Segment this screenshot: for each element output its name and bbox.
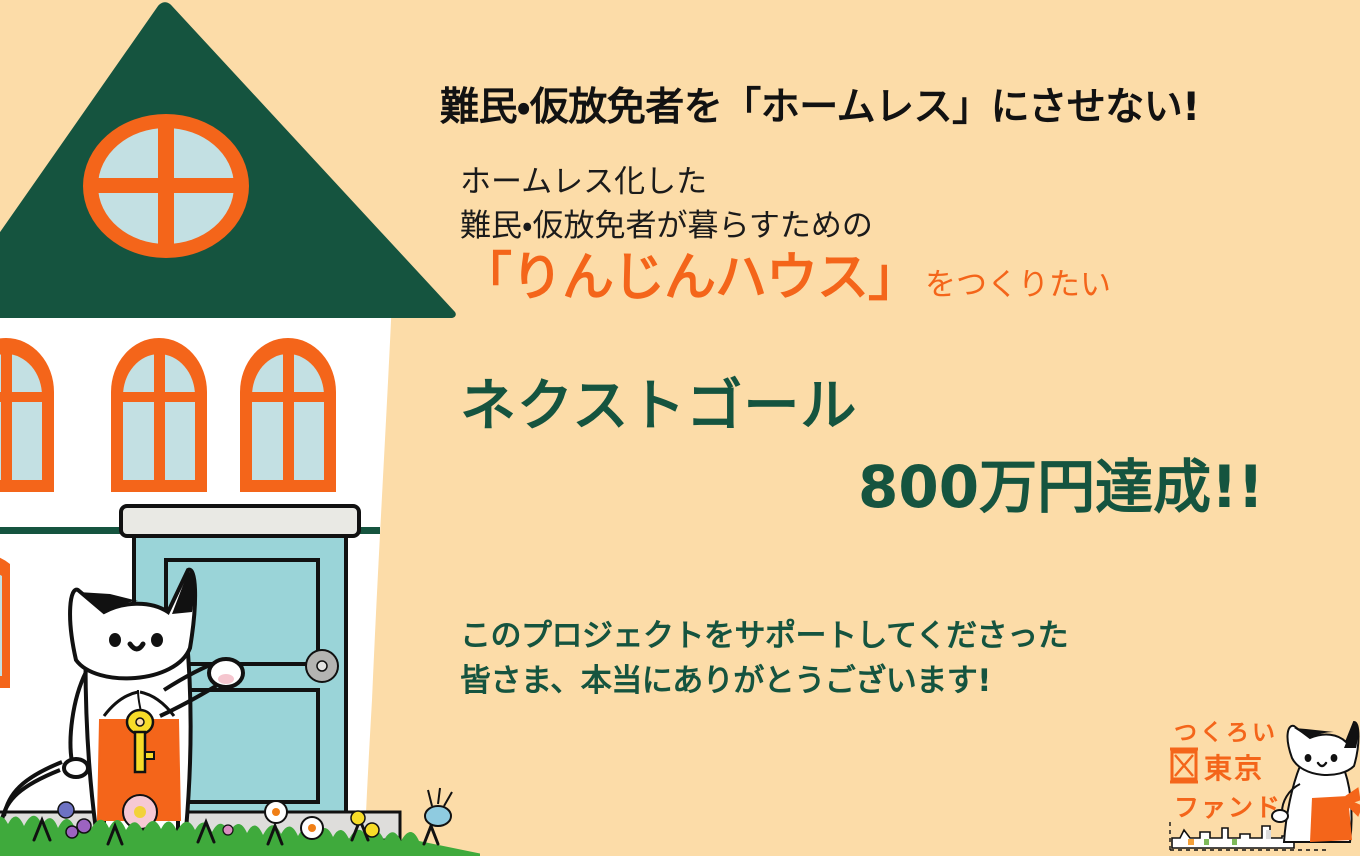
house-name-line: 「りんじんハウス」をつくりたい <box>460 252 1320 304</box>
page-title: 難民・仮放免者を「ホームレス」にさせない! <box>440 76 1200 132</box>
house-name-suffix: をつくりたい <box>919 267 1111 303</box>
thanks-block: このプロジェクトをサポートしてくださった 皆さま、本当にありがとうございます! <box>460 614 1320 704</box>
logo-line-2: 東京 <box>1204 752 1264 785</box>
house-name: 「りんじんハウス」 <box>460 248 919 308</box>
doorknob <box>306 650 338 682</box>
goal-block: ネクストゴール 800万円達成!! <box>460 378 1320 518</box>
logo-line-3: ファンド <box>1174 793 1282 822</box>
arched-window-3 <box>240 338 336 492</box>
arched-window-2 <box>111 338 207 492</box>
cat-mascot <box>1272 722 1360 842</box>
goal-amount: 800万円達成!! <box>460 457 1320 518</box>
arched-window-4 <box>0 554 10 688</box>
round-attic-window <box>83 114 249 258</box>
thanks-line-2: 皆さま、本当にありがとうございます! <box>460 659 1320 704</box>
banner-canvas: 難民・仮放免者を「ホームレス」にさせない! ホームレス化した 難民・仮放免者が暮… <box>0 0 1360 856</box>
house-illustration <box>0 0 480 856</box>
spool-icon <box>1170 749 1198 782</box>
goal-label: ネクストゴール <box>460 378 1320 437</box>
subtitle-line-1: ホームレス化した <box>460 160 1320 204</box>
logo-line-1: つくろい <box>1174 720 1278 746</box>
thanks-line-1: このプロジェクトをサポートしてくださった <box>460 614 1320 659</box>
organization-logo[interactable]: つくろい 東京 ファンド <box>1164 714 1360 856</box>
subtitle-block: ホームレス化した 難民・仮放免者が暮らすための 「りんじんハウス」をつくりたい <box>460 160 1320 304</box>
subtitle-line-2: 難民・仮放免者が暮らすための <box>460 204 1320 248</box>
